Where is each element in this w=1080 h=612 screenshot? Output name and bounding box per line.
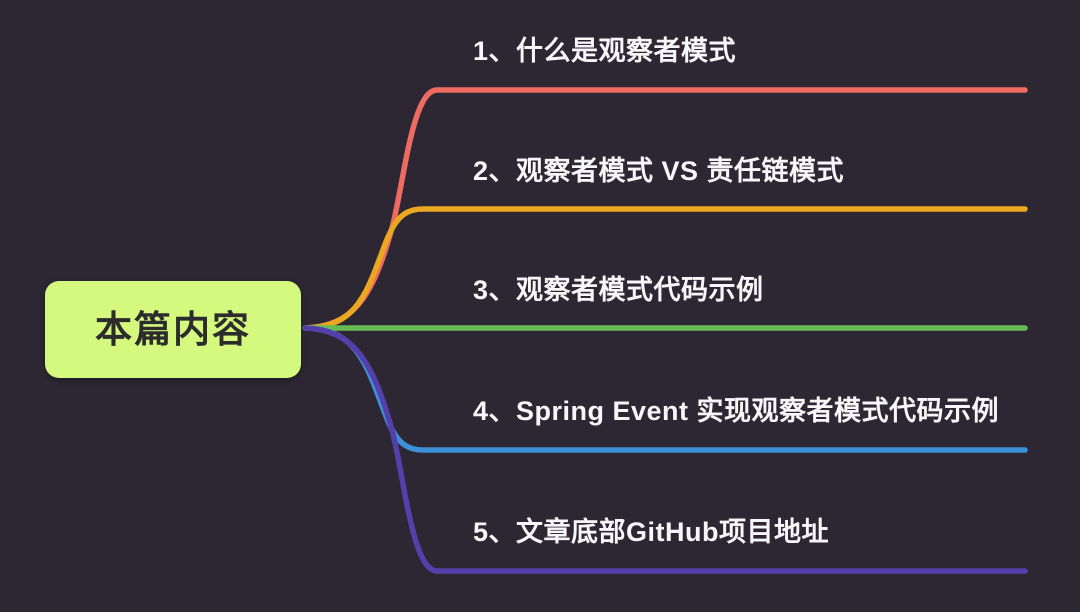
branch-label-3[interactable]: 3、观察者模式代码示例 [473,277,764,304]
mindmap-canvas: 本篇内容 1、什么是观察者模式 2、观察者模式 VS 责任链模式 3、观察者模式… [0,0,1080,612]
branch-curve-4 [305,328,1025,450]
branch-label-2[interactable]: 2、观察者模式 VS 责任链模式 [473,158,844,185]
branch-label-4[interactable]: 4、Spring Event 实现观察者模式代码示例 [473,398,999,425]
root-node-label: 本篇内容 [95,311,251,348]
branch-label-1[interactable]: 1、什么是观察者模式 [473,38,736,65]
root-node[interactable]: 本篇内容 [45,281,301,378]
branch-curve-2 [305,209,1025,328]
branch-label-5[interactable]: 5、文章底部GitHub项目地址 [473,519,829,546]
